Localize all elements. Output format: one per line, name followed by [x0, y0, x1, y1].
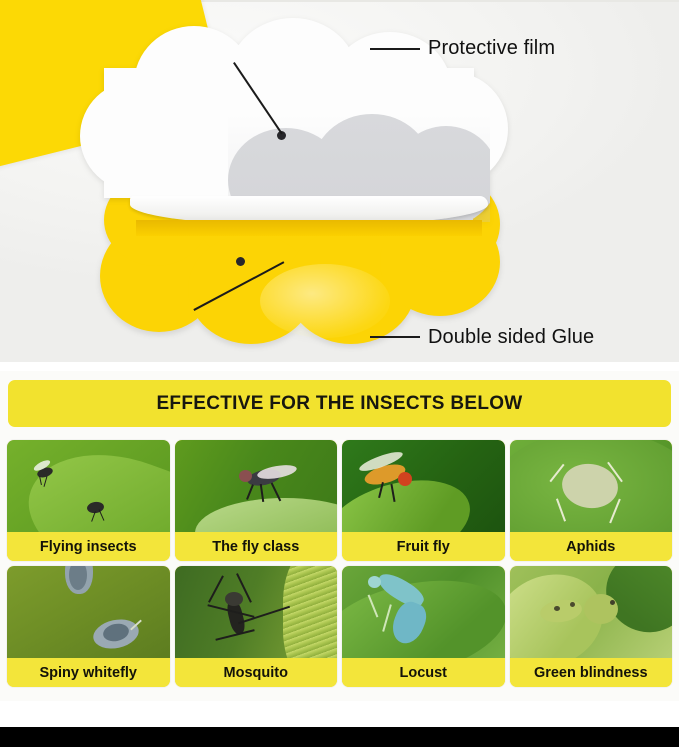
locust-head — [368, 576, 381, 588]
bug-marking — [610, 600, 615, 605]
insect-card-mosquito[interactable]: Mosquito — [175, 566, 338, 687]
insects-banner: EFFECTIVE FOR THE INSECTS BELOW — [8, 380, 671, 427]
insect-card-label: Aphids — [510, 532, 673, 561]
insect-card-label: Green blindness — [510, 658, 673, 687]
insect-card-row: Spiny whitefly Mosquito — [7, 566, 672, 687]
insect-card-label: Mosquito — [175, 658, 338, 687]
mosquito-thorax — [225, 592, 243, 606]
insect-photo-the-fly-class — [175, 440, 338, 532]
insect-card-grid: Flying insects The fly class — [7, 440, 672, 687]
protective-film-label: Protective film — [428, 37, 555, 60]
section-divider — [0, 362, 679, 371]
insect-card-aphids[interactable]: Aphids — [510, 440, 673, 561]
insect-card-label: Flying insects — [7, 532, 170, 561]
insect-photo-fruit-fly — [342, 440, 505, 532]
insect-photo-green-blindness — [510, 566, 673, 658]
insect-card-fruit-fly[interactable]: Fruit fly — [342, 440, 505, 561]
insect-card-row: Flying insects The fly class — [7, 440, 672, 561]
protective-film-leader-line-horizontal — [370, 48, 420, 50]
insect-card-label: The fly class — [175, 532, 338, 561]
insect-eye — [398, 472, 412, 486]
insect-card-flying-insects[interactable]: Flying insects — [7, 440, 170, 561]
plant-bug-body — [584, 594, 618, 624]
insect-photo-flying-insects — [7, 440, 170, 532]
double-sided-glue-callout-dot — [236, 257, 245, 266]
insect-photo-mosquito — [175, 566, 338, 658]
effective-insects-section: EFFECTIVE FOR THE INSECTS BELOW — [0, 371, 679, 701]
insect-head — [239, 470, 252, 482]
insect-card-label: Locust — [342, 658, 505, 687]
double-sided-glue-label: Double sided Glue — [428, 326, 594, 349]
product-infographic: Protective film Double sided Glue EFFECT… — [0, 0, 679, 747]
insects-banner-text: EFFECTIVE FOR THE INSECTS BELOW — [156, 393, 522, 415]
insect-photo-aphids — [510, 440, 673, 532]
sticky-trap-assembly — [78, 18, 508, 338]
insect-card-the-fly-class[interactable]: The fly class — [175, 440, 338, 561]
insect-card-locust[interactable]: Locust — [342, 566, 505, 687]
bug-marking — [554, 606, 560, 611]
bottom-white-strip — [0, 701, 679, 727]
product-photo-panel: Protective film Double sided Glue — [0, 0, 679, 362]
leaf-edge — [283, 566, 338, 658]
insect-card-spiny-whitefly[interactable]: Spiny whitefly — [7, 566, 170, 687]
bottom-black-bar — [0, 727, 679, 747]
bug-marking — [570, 602, 575, 607]
insect-photo-spiny-whitefly — [7, 566, 170, 658]
double-sided-glue-leader-line-horizontal — [370, 336, 420, 338]
insect-photo-locust — [342, 566, 505, 658]
glue-surface-sheen — [260, 264, 390, 338]
exposed-glue-strip — [136, 220, 482, 236]
insect-card-label: Fruit fly — [342, 532, 505, 561]
insect-card-label: Spiny whitefly — [7, 658, 170, 687]
insect-card-green-blindness[interactable]: Green blindness — [510, 566, 673, 687]
